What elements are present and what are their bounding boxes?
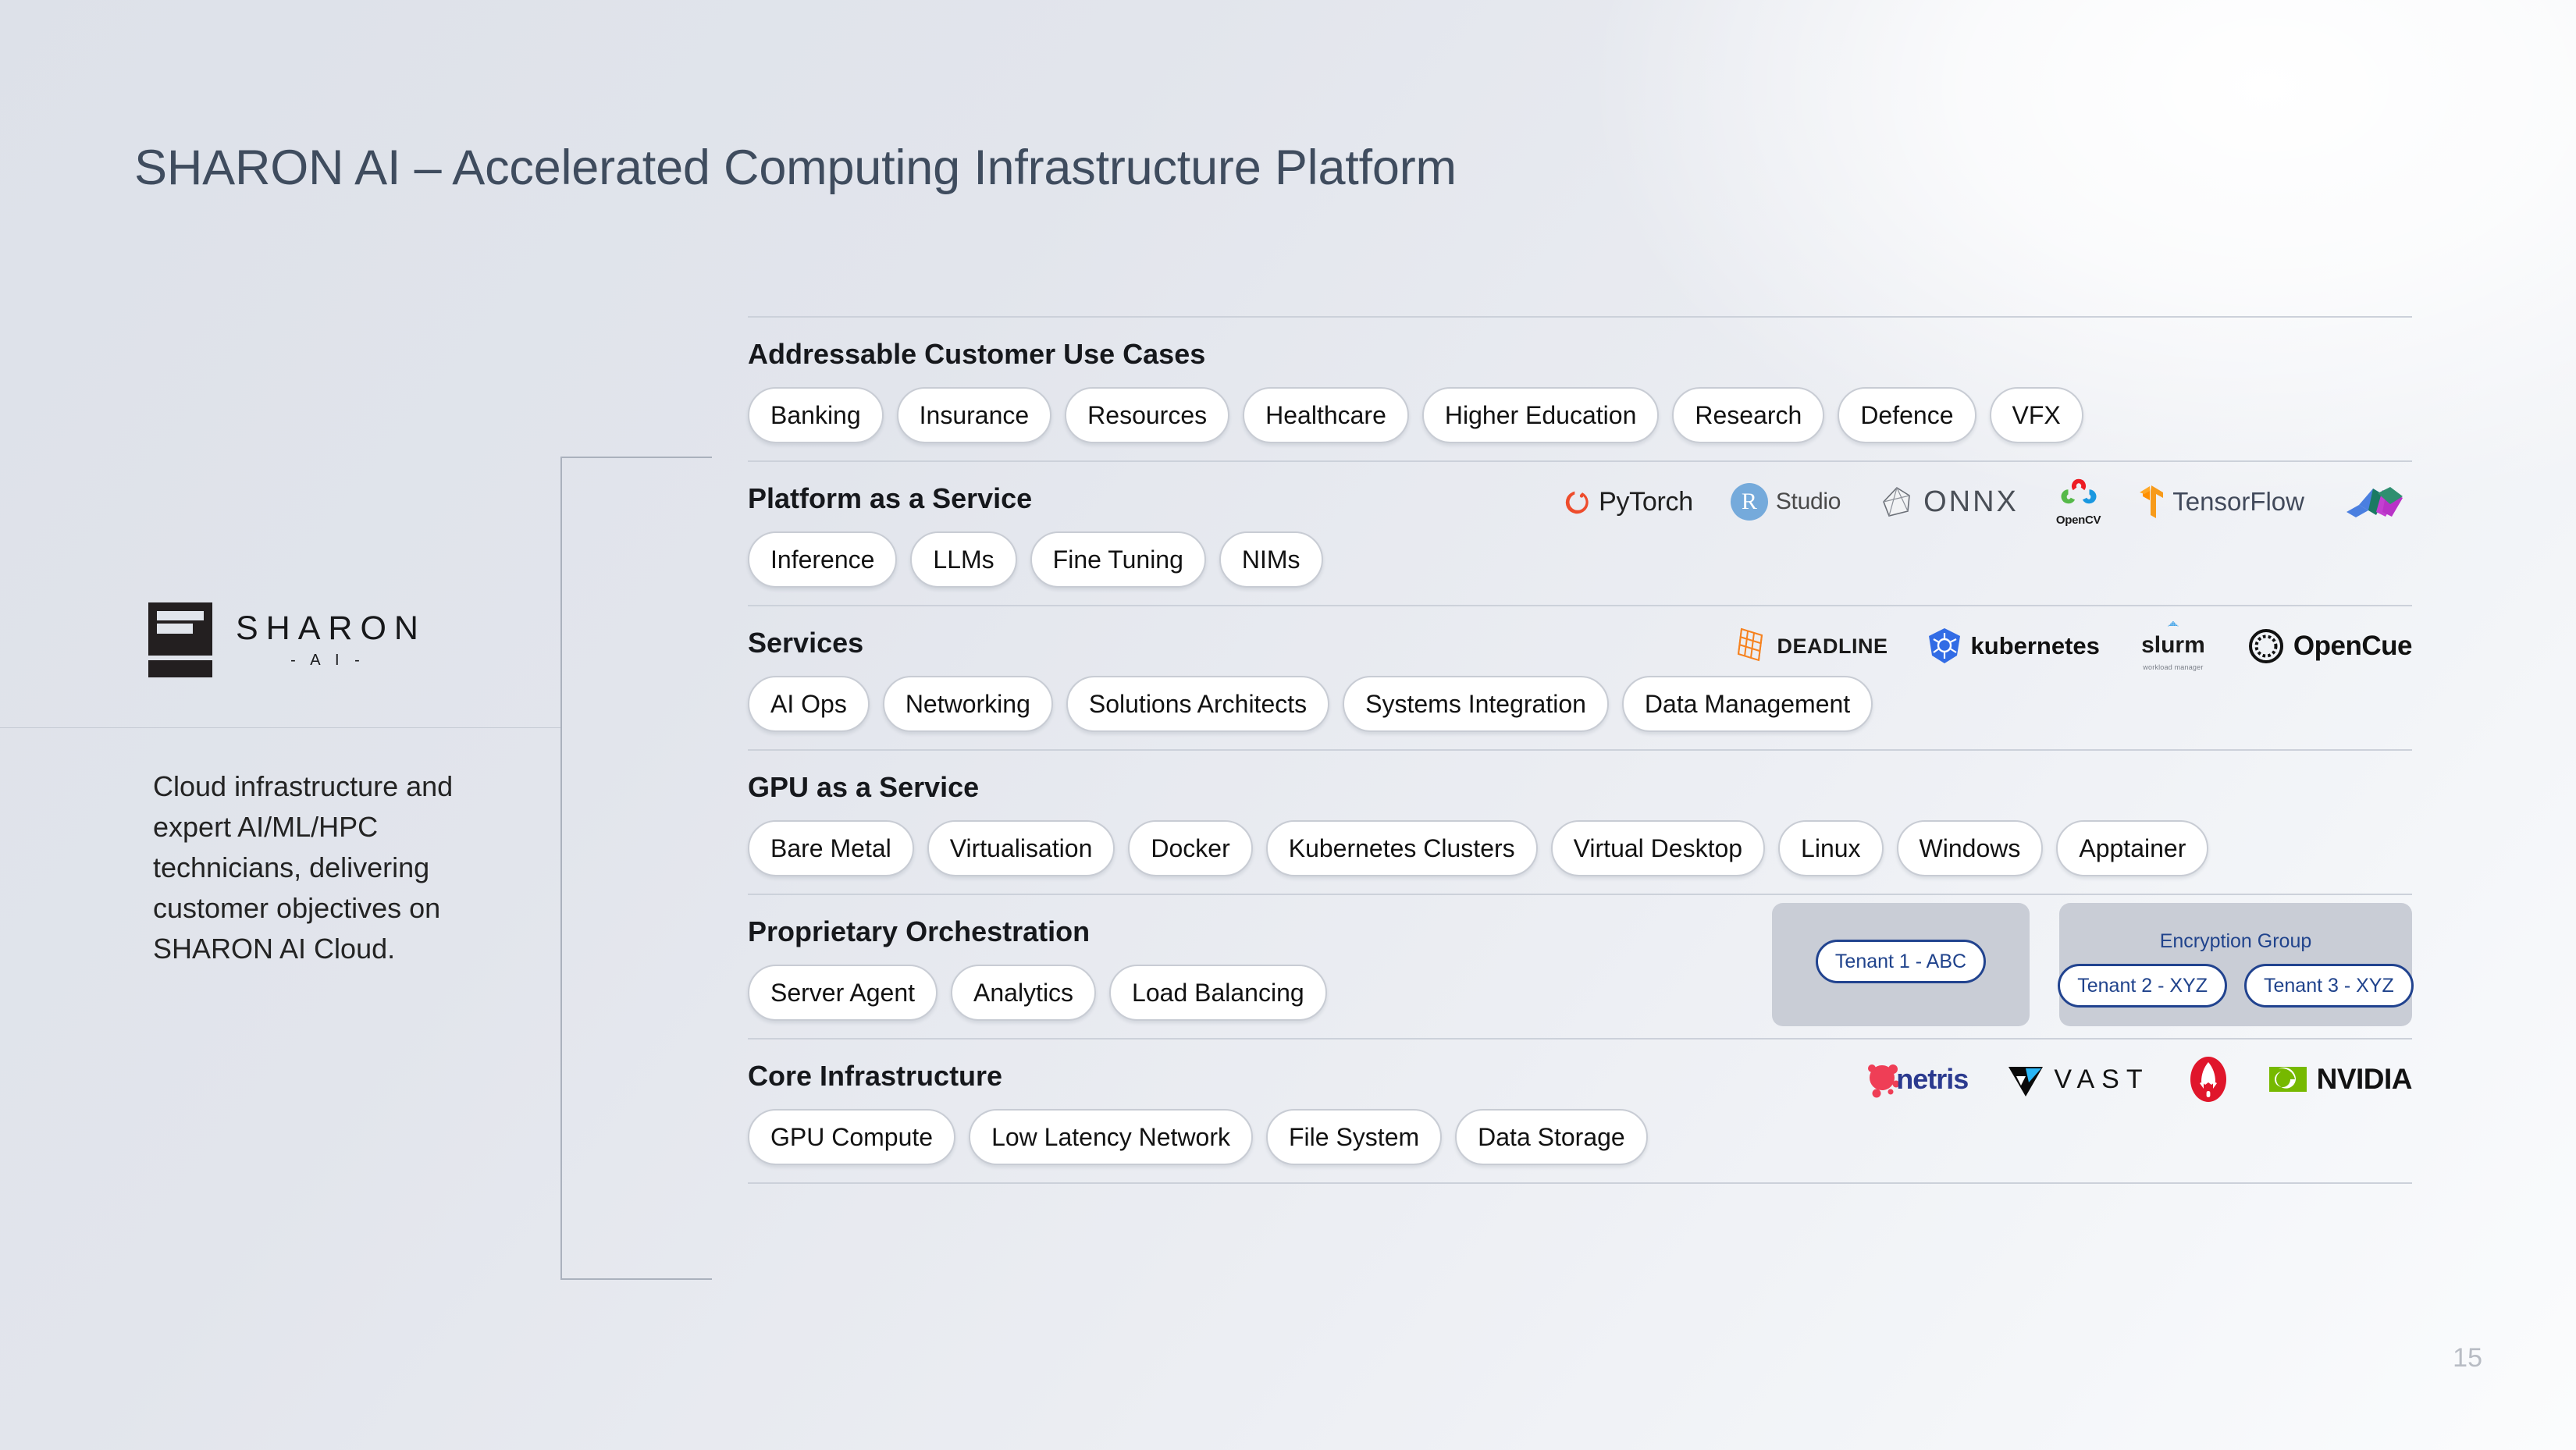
pill-virtualisation[interactable]: Virtualisation	[927, 820, 1115, 876]
core-logo-strip: netris VAST	[1865, 1050, 2412, 1108]
pill-docker[interactable]: Docker	[1128, 820, 1252, 876]
pill-row: Inference LLMs Fine Tuning NIMs	[748, 531, 2412, 588]
pill-fine-tuning[interactable]: Fine Tuning	[1030, 531, 1206, 588]
pill-nims[interactable]: NIMs	[1219, 531, 1323, 588]
encryption-group-label: Encryption Group	[2160, 930, 2312, 953]
pill-data-storage[interactable]: Data Storage	[1455, 1109, 1648, 1165]
opencv-wordmark: OpenCV	[2056, 514, 2101, 527]
pill-row: Banking Insurance Resources Healthcare H…	[748, 387, 2412, 443]
pill-linux[interactable]: Linux	[1778, 820, 1884, 876]
pill-inference[interactable]: Inference	[748, 531, 897, 588]
stack-bracket	[560, 457, 712, 1280]
pill-server-agent[interactable]: Server Agent	[748, 965, 938, 1021]
page-number: 15	[2453, 1343, 2482, 1374]
pill-networking[interactable]: Networking	[883, 676, 1053, 732]
pill-virtual-desktop[interactable]: Virtual Desktop	[1551, 820, 1765, 876]
pill-row: Bare Metal Virtualisation Docker Kuberne…	[748, 820, 2412, 876]
pill-row: GPU Compute Low Latency Network File Sys…	[748, 1109, 2412, 1165]
tenant-pill-2[interactable]: Tenant 2 - XYZ	[2058, 964, 2227, 1008]
deadline-logo: DEADLINE	[1731, 621, 1888, 671]
pytorch-flame-icon	[1564, 486, 1591, 517]
brand-lockup: SHARON - A I -	[0, 593, 562, 687]
nvidia-logo: NVIDIA	[2267, 1054, 2412, 1104]
pill-insurance[interactable]: Insurance	[897, 387, 1052, 443]
tenant-box-encryption-group: Encryption Group Tenant 2 - XYZ Tenant 3…	[2059, 903, 2412, 1026]
row-heading: Addressable Customer Use Cases	[748, 338, 2412, 371]
kubernetes-wordmark: kubernetes	[1971, 632, 2100, 660]
opencue-wordmark: OpenCue	[2293, 631, 2412, 662]
pytorch-wordmark: PyTorch	[1599, 487, 1693, 517]
services-logo-strip: DEADLINE kubernetes	[1731, 617, 2413, 675]
deadline-mesh-icon	[1731, 624, 1770, 668]
opencv-rings-icon	[2057, 477, 2101, 512]
pill-data-management[interactable]: Data Management	[1622, 676, 1873, 732]
deadline-wordmark: DEADLINE	[1777, 634, 1888, 659]
brand-subtitle: - A I -	[236, 652, 426, 668]
pill-resources[interactable]: Resources	[1065, 387, 1229, 443]
vast-wordmark: VAST	[2054, 1064, 2149, 1095]
pill-apptainer[interactable]: Apptainer	[2056, 820, 2208, 876]
nvidia-eye-icon	[2267, 1062, 2309, 1096]
page-title: SHARON AI – Accelerated Computing Infras…	[134, 140, 1457, 196]
pill-analytics[interactable]: Analytics	[951, 965, 1096, 1021]
vast-logo: VAST	[2005, 1054, 2149, 1104]
pill-llms[interactable]: LLMs	[910, 531, 1016, 588]
sharon-ai-logo-icon	[148, 602, 212, 677]
netris-wordmark: netris	[1896, 1063, 1968, 1096]
onnx-wordmark: ONNX	[1923, 485, 2019, 519]
rstudio-r-icon: R	[1731, 483, 1768, 521]
stack-row-orchestration: Proprietary Orchestration Server Agent A…	[748, 895, 2412, 1040]
pill-gpu-compute[interactable]: GPU Compute	[748, 1109, 955, 1165]
pill-windows[interactable]: Windows	[1897, 820, 2044, 876]
vast-triangle-icon	[2005, 1059, 2046, 1100]
stack-row-core-infrastructure: Core Infrastructure GPU Compute Low Late…	[748, 1040, 2412, 1184]
pill-file-system[interactable]: File System	[1266, 1109, 1442, 1165]
slurm-logo: slurm workload manager	[2137, 621, 2209, 671]
stack-row-use-cases: Addressable Customer Use Cases Banking I…	[748, 316, 2412, 462]
pill-solutions-architects[interactable]: Solutions Architects	[1066, 676, 1329, 732]
left-panel-divider	[0, 727, 562, 728]
tenant-area: Tenant 1 - ABC Encryption Group Tenant 2…	[1772, 903, 2412, 1026]
pill-ai-ops[interactable]: AI Ops	[748, 676, 870, 732]
pill-low-latency-network[interactable]: Low Latency Network	[969, 1109, 1253, 1165]
netris-logo: netris	[1865, 1054, 1968, 1104]
jax-logo	[2342, 477, 2412, 527]
brand-blurb: Cloud infrastructure and expert AI/ML/HP…	[153, 766, 489, 969]
opencv-logo: OpenCV	[2056, 477, 2101, 527]
jax-isometric-icon	[2342, 481, 2412, 523]
pill-row: AI Ops Networking Solutions Architects S…	[748, 676, 2412, 732]
kubernetes-logo: kubernetes	[1926, 621, 2100, 671]
slurm-tagline: workload manager	[2143, 663, 2203, 671]
pill-healthcare[interactable]: Healthcare	[1243, 387, 1409, 443]
stack-row-services: Services AI Ops Networking Solutions Arc…	[748, 606, 2412, 751]
runai-logo	[2187, 1054, 2229, 1104]
platform-stack: Addressable Customer Use Cases Banking I…	[748, 316, 2412, 1184]
pill-systems-integration[interactable]: Systems Integration	[1343, 676, 1609, 732]
runai-rocket-icon	[2187, 1055, 2229, 1103]
pill-defence[interactable]: Defence	[1838, 387, 1976, 443]
tensorflow-logo: TensorFlow	[2138, 477, 2304, 527]
pill-bare-metal[interactable]: Bare Metal	[748, 820, 914, 876]
tenant-box-single: Tenant 1 - ABC	[1772, 903, 2030, 1026]
slurm-wordmark: slurm	[2141, 634, 2205, 656]
kubernetes-helm-icon	[1926, 627, 1963, 666]
row-heading: GPU as a Service	[748, 771, 2412, 804]
pill-kubernetes-clusters[interactable]: Kubernetes Clusters	[1266, 820, 1538, 876]
pytorch-logo: PyTorch	[1564, 477, 1693, 527]
pill-banking[interactable]: Banking	[748, 387, 884, 443]
rstudio-wordmark: Studio	[1776, 489, 1841, 515]
left-brand-panel: SHARON - A I - Cloud infrastructure and …	[0, 593, 562, 687]
slurm-dots-icon	[2137, 621, 2209, 627]
tenant-pill-3[interactable]: Tenant 3 - XYZ	[2244, 964, 2414, 1008]
opencue-gear-icon	[2247, 627, 2286, 666]
paas-logo-strip: PyTorch R Studio ONNX OpenCV	[1564, 473, 2412, 531]
nvidia-wordmark: NVIDIA	[2317, 1063, 2412, 1096]
tenant-pill-1[interactable]: Tenant 1 - ABC	[1816, 940, 1986, 983]
tensorflow-wordmark: TensorFlow	[2172, 487, 2304, 517]
pill-vfx[interactable]: VFX	[1990, 387, 2083, 443]
stack-row-paas: Platform as a Service Inference LLMs Fin…	[748, 462, 2412, 606]
pill-research[interactable]: Research	[1672, 387, 1824, 443]
pill-higher-education[interactable]: Higher Education	[1422, 387, 1659, 443]
tensorflow-mark-icon	[2138, 484, 2165, 520]
pill-load-balancing[interactable]: Load Balancing	[1109, 965, 1327, 1021]
brand-name: SHARON	[236, 612, 426, 645]
opencue-logo: OpenCue	[2247, 621, 2412, 671]
onnx-polyhedron-icon	[1878, 483, 1916, 521]
rstudio-logo: R Studio	[1731, 477, 1841, 527]
onnx-logo: ONNX	[1878, 477, 2019, 527]
stack-row-gpuaas: GPU as a Service Bare Metal Virtualisati…	[748, 751, 2412, 895]
